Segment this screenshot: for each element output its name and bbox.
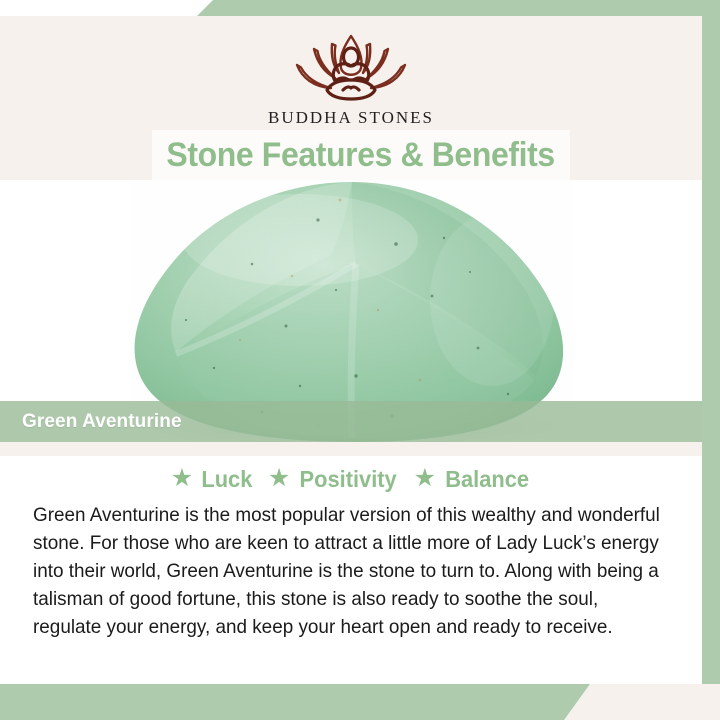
brand-logo: BUDDHA STONES (0, 30, 702, 128)
star-icon: ★ (414, 466, 436, 491)
star-icon: ★ (268, 466, 290, 491)
cream-divider-strip (0, 442, 702, 456)
page-title: Stone Features & Benefits (167, 136, 555, 175)
content-section: ★ Luck ★ Positivity ★ Balance Green Aven… (0, 456, 702, 684)
benefit-item-balance: ★ Balance (414, 466, 532, 493)
stone-name-label: Green Aventurine (22, 411, 182, 433)
benefit-label-luck: Luck (202, 466, 253, 493)
title-banner: Stone Features & Benefits (152, 130, 570, 180)
infographic-page: BUDDHA STONES Stone Features & Benefits (0, 0, 720, 720)
benefit-label-balance: Balance (445, 466, 529, 493)
benefit-label-positivity: Positivity (300, 466, 397, 493)
frame-bottom-bar (0, 684, 590, 720)
brand-wordmark: BUDDHA STONES (268, 108, 434, 128)
frame-top-bar (196, 0, 720, 17)
header: BUDDHA STONES Stone Features & Benefits (0, 16, 702, 180)
star-icon: ★ (171, 466, 193, 491)
benefit-item-positivity: ★ Positivity (268, 466, 400, 493)
description-paragraph: Green Aventurine is the most popular ver… (33, 502, 660, 642)
benefit-item-luck: ★ Luck (171, 466, 254, 493)
benefits-row: ★ Luck ★ Positivity ★ Balance (0, 466, 702, 493)
frame-right-bar (702, 0, 720, 684)
stone-name-band: Green Aventurine (0, 401, 702, 442)
lotus-meditation-icon (269, 30, 433, 104)
